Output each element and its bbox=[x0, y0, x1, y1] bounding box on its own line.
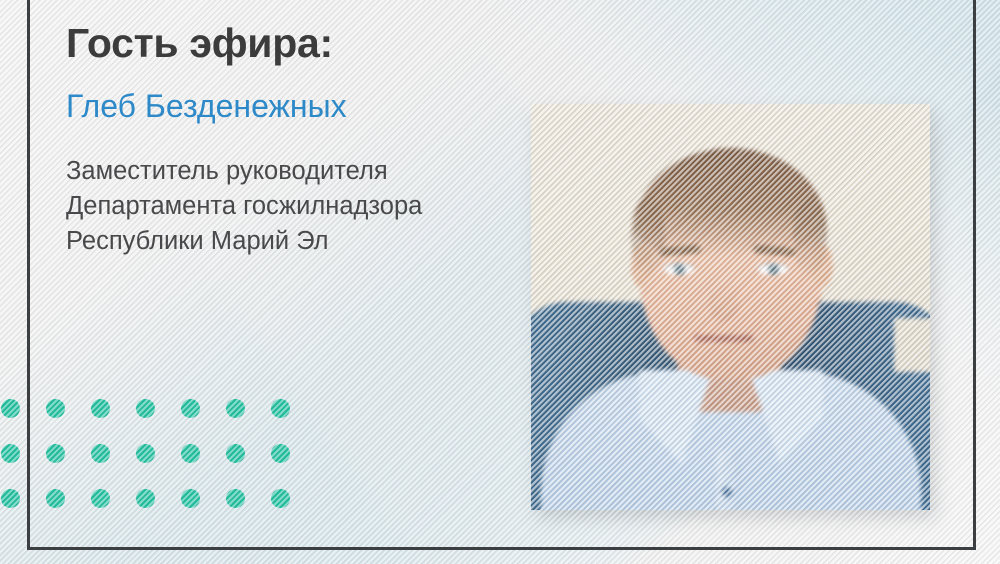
decor-dot bbox=[226, 489, 245, 508]
decor-dot bbox=[136, 399, 155, 418]
decor-dot bbox=[1, 399, 20, 418]
decor-dot bbox=[91, 399, 110, 418]
guest-role: Заместитель руководителя Департамента го… bbox=[66, 154, 536, 258]
guest-name: Глеб Безденежных bbox=[66, 89, 536, 124]
decor-dot bbox=[1, 444, 20, 463]
decor-dot bbox=[226, 444, 245, 463]
decor-dot bbox=[271, 399, 290, 418]
decor-dot bbox=[136, 489, 155, 508]
decor-dot bbox=[91, 444, 110, 463]
guest-info-block: Гость эфира: Глеб Безденежных Заместител… bbox=[66, 22, 536, 258]
decor-dot-grid bbox=[1, 386, 316, 521]
decor-dot bbox=[181, 399, 200, 418]
decor-dot bbox=[46, 444, 65, 463]
decor-dot bbox=[136, 444, 155, 463]
decor-dot bbox=[46, 399, 65, 418]
guest-role-line-3: Республики Марий Эл bbox=[66, 224, 536, 259]
photo-hatch-overlay bbox=[531, 104, 930, 510]
decor-dot bbox=[181, 489, 200, 508]
decor-dot bbox=[271, 489, 290, 508]
decor-dot bbox=[271, 444, 290, 463]
guest-role-line-1: Заместитель руководителя bbox=[66, 154, 536, 189]
decor-dot bbox=[46, 489, 65, 508]
decor-dot bbox=[1, 489, 20, 508]
decor-dot bbox=[226, 399, 245, 418]
guest-photo-image bbox=[531, 104, 930, 510]
decor-dot bbox=[181, 444, 200, 463]
slide-title: Гость эфира: bbox=[66, 22, 536, 65]
lower-third-slide: Гость эфира: Глеб Безденежных Заместител… bbox=[0, 0, 1000, 564]
guest-photo bbox=[531, 104, 930, 510]
decor-dot bbox=[91, 489, 110, 508]
guest-role-line-2: Департамента госжилнадзора bbox=[66, 189, 536, 224]
